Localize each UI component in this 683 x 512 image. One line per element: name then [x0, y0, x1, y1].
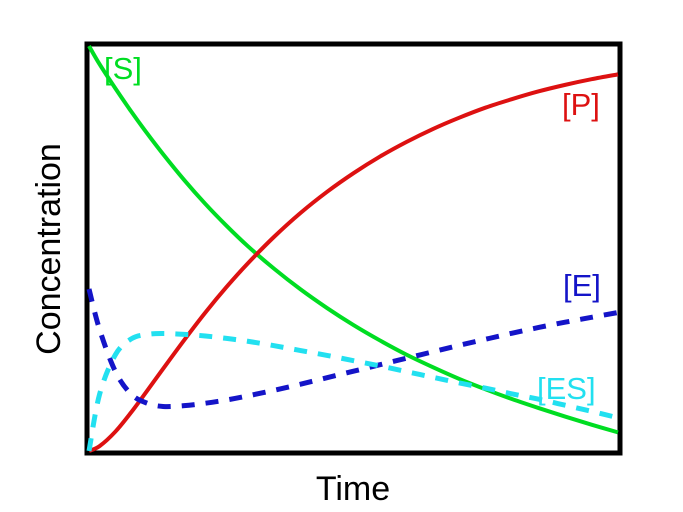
x-axis-title: Time	[316, 470, 390, 508]
series-label-enzyme: [E]	[563, 268, 601, 303]
series-label-product: [P]	[562, 87, 600, 122]
chart-figure: Time Concentration [S] [P] [E] [ES]	[0, 0, 683, 512]
series-label-substrate: [S]	[104, 51, 142, 86]
y-axis-title: Concentration	[30, 143, 68, 355]
enzyme-kinetics-chart: Time Concentration [S] [P] [E] [ES]	[0, 0, 683, 512]
series-label-complex: [ES]	[537, 371, 596, 406]
